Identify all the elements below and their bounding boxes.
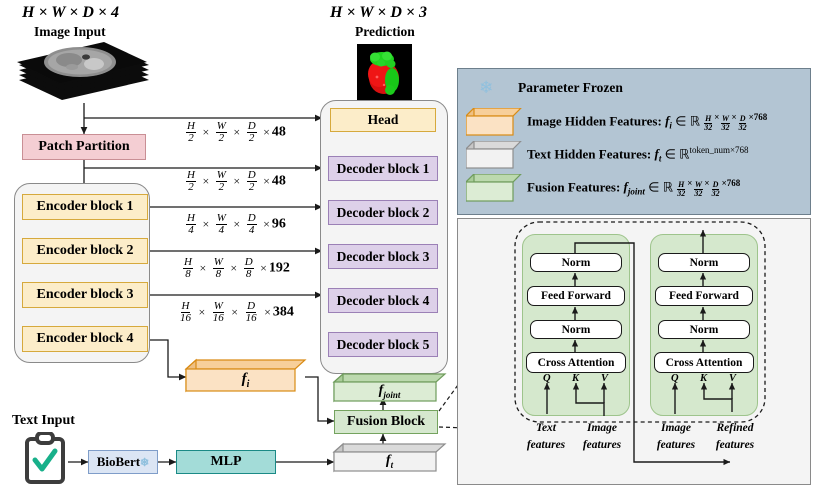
fusion-detail-arrows xyxy=(0,0,817,493)
